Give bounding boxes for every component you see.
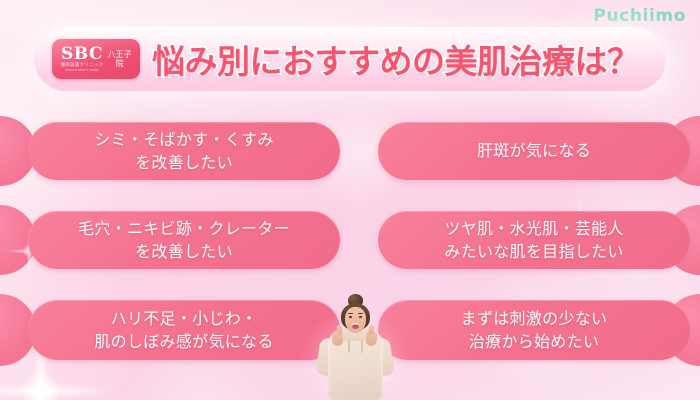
model-photo <box>312 294 398 400</box>
option-card-melasma[interactable]: 肝斑が気になる <box>378 122 690 180</box>
model-mouth <box>352 323 359 329</box>
brand-logo: Puchiimo <box>593 6 686 26</box>
model-drawstring <box>348 340 350 353</box>
model-drawstring <box>361 340 363 353</box>
title-banner: SBC 湘南美容クリニック SHONAN BEAUTY CLINIC 八王子 院… <box>34 27 666 91</box>
promo-banner: Puchiimo SBC 湘南美容クリニック SHONAN BEAUTY CLI… <box>0 0 700 400</box>
option-line: を改善したい <box>94 151 274 174</box>
model-eyebrow <box>358 313 363 314</box>
sbc-clinic-logo: SBC 湘南美容クリニック SHONAN BEAUTY CLINIC 八王子 院 <box>52 39 140 79</box>
option-line: ハリ不足・小じわ・ <box>94 307 273 330</box>
thumbs-up-icon <box>336 325 342 335</box>
sbc-logo-main: SBC 湘南美容クリニック SHONAN BEAUTY CLINIC <box>60 46 103 73</box>
option-card-glow[interactable]: ツヤ肌・水光肌・芸能人 みたいな肌を目指したい <box>378 211 690 269</box>
model-eyebrow <box>348 313 353 314</box>
sbc-subtitle-roman: SHONAN BEAUTY CLINIC <box>65 70 99 73</box>
option-line: 肝斑が気になる <box>477 139 591 162</box>
option-line: ツヤ肌・水光肌・芸能人 <box>444 217 623 240</box>
option-card-pores[interactable]: 毛穴・ニキビ跡・クレーター を改善したい <box>28 211 340 269</box>
option-card-gentle[interactable]: まずは刺激の少ない 治療から始めたい <box>378 300 690 360</box>
bokeh-circle <box>0 60 130 310</box>
option-card-spots[interactable]: シミ・そばかす・くすみ を改善したい <box>28 122 340 180</box>
option-line: 治療から始めたい <box>461 330 608 353</box>
sbc-initials: SBC <box>61 46 103 63</box>
option-line: シミ・そばかす・くすみ <box>94 128 274 151</box>
sbc-branch: 八王子 院 <box>108 50 132 68</box>
model-face <box>345 307 366 333</box>
sbc-branch-suffix: 院 <box>116 59 124 68</box>
model-eye <box>359 316 362 318</box>
option-line: みたいな肌を目指したい <box>444 240 623 263</box>
option-card-firmness[interactable]: ハリ不足・小じわ・ 肌のしぼみ感が気になる <box>28 300 340 360</box>
page-title: 悩み別におすすめの美肌治療は？ <box>152 35 640 83</box>
option-line: まずは刺激の少ない <box>461 307 608 330</box>
model-eye <box>349 316 352 318</box>
option-line: 肌のしぼみ感が気になる <box>94 330 273 353</box>
sbc-branch-name: 八王子 <box>108 50 132 59</box>
option-line: を改善したい <box>78 240 290 263</box>
option-line: 毛穴・ニキビ跡・クレーター <box>78 217 290 240</box>
